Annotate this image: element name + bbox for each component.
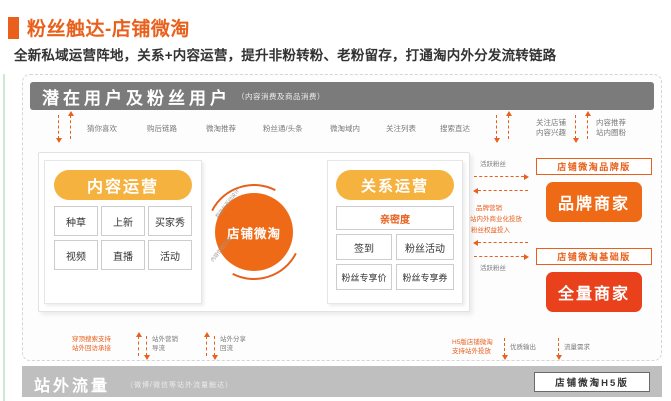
relationship-item-2[interactable]: 粉丝专享价 [336,264,392,290]
relationship-item-0[interactable]: 签到 [336,234,392,260]
middle-flow-line-0: 品牌营销 [476,202,502,212]
title-text: 粉丝触达-店铺微淘 [27,14,190,41]
bottom-flow-2: 站外分享 回流 [220,335,246,353]
title-accent-bar [8,17,19,39]
content-item-4[interactable]: 直播 [101,240,145,270]
bottom-flow-1-line0: 站外营销 [152,335,178,344]
merchant-all[interactable]: 全量商家 [546,272,642,312]
bottom-flow-0: 穿顶搜索支持 站外回访承接 [72,335,111,353]
bottom-flow-3-line1: 支持站外投放 [452,347,493,356]
arrow-right-bottom [474,256,524,257]
center-hub: 店铺微淘 权益与互动设计 内容供给分发 [206,184,302,280]
arrow-up-mid-b [508,115,509,139]
merchant-brand[interactable]: 品牌商家 [546,182,642,222]
bottom-flow-5: 流量需求 [564,343,590,352]
arrow-down-bottom-c [504,338,505,356]
top-right-channel-0-line1: 关注店铺 [522,118,566,128]
top-channel-row: 猜你喜欢 购后链路 微淘推荐 粉丝通/头条 微淘域内 关注列表 搜索直达 关注店… [30,113,654,143]
audience-band: 潜在用户及粉丝用户 （内容消费及商品消费） [30,82,654,110]
arrow-left-bottom [478,242,528,243]
arrow-down-bottom-b [214,336,215,356]
bottom-flow-5-line0: 流量需求 [564,343,590,352]
page-subtitle: 全新私域运营阵地，关系+内容运营，提升非粉转粉、老粉留存，打通淘内外分发流转链路 [14,44,556,64]
footer-note: （微博/微信等站外流量触达） [126,380,233,390]
top-channel-5: 关注列表 [386,123,416,134]
relationship-item-3[interactable]: 粉丝专享券 [396,264,454,290]
content-operations-title: 内容运营 [54,170,192,200]
content-item-2[interactable]: 买家秀 [148,206,192,236]
bottom-flow-2-line1: 回流 [220,344,246,353]
content-item-3[interactable]: 视频 [54,240,98,270]
top-channel-0: 猜你喜欢 [87,123,117,134]
version-box-brand[interactable]: 店铺微淘品牌版 [536,158,652,175]
arrow-up-bottom-a [138,336,139,356]
top-right-channel-1-line2: 站内圈粉 [596,128,626,138]
top-right-channel-0: 关注店铺 内容兴趣 [522,118,566,138]
top-channel-4: 微淘域内 [330,123,360,134]
middle-flow-line-2: 粉丝权益投入 [471,224,510,234]
arrow-left-top [478,190,528,191]
content-item-0[interactable]: 种草 [54,206,98,236]
bottom-flow-2-line0: 站外分享 [220,335,246,344]
top-channel-3: 粉丝通/头条 [263,123,303,134]
top-channel-6: 搜索直达 [440,123,470,134]
slide-root: 粉丝触达-店铺微淘 全新私域运营阵地，关系+内容运营，提升非粉转粉、老粉留存，打… [0,0,671,401]
relationship-operations-title: 关系运营 [336,170,454,200]
top-right-channel-1-line1: 内容推荐 [596,118,626,128]
bottom-flow-3: H5版店铺微淘 支持站外投放 [452,338,493,356]
arrow-down-left-a [58,115,59,139]
footer-badge[interactable]: 店铺微淘H5版 [534,372,650,392]
arrow-down-right-a [575,115,576,139]
audience-band-note: （内容消费及商品消费） [237,91,325,102]
audience-band-title: 潜在用户及粉丝用户 [42,84,231,109]
bottom-flow-0-line0: 穿顶搜索支持 [72,335,111,344]
relationship-item-1[interactable]: 粉丝活动 [396,234,454,260]
middle-flow-top-label: 活跃粉丝 [480,158,506,168]
bottom-flow-1: 站外营销 导流 [152,335,178,353]
arrow-down-bottom-a [146,336,147,356]
content-item-1[interactable]: 上新 [101,206,145,236]
arrow-up-bottom-b [206,336,207,356]
arrow-down-mid-a [496,115,497,139]
content-item-5[interactable]: 活动 [148,240,192,270]
top-channel-2: 微淘推荐 [206,123,236,134]
top-right-channel-0-line2: 内容兴趣 [522,128,566,138]
arrow-down-bottom-d [558,338,559,356]
bottom-flow-1-line1: 导流 [152,344,178,353]
arrow-up-right-b [587,115,588,139]
footer-title: 站外流量 [34,372,110,396]
middle-flow-zone: 活跃粉丝 品牌营销 站内外商业化投放 粉丝权益投入 活跃粉丝 [470,150,532,320]
top-channel-1: 购后链路 [147,123,177,134]
arrow-up-left-b [70,115,71,139]
middle-flow-bottom-label: 活跃粉丝 [480,262,506,272]
version-box-basic[interactable]: 店铺微淘基础版 [536,248,652,265]
bottom-flow-4: 优质输出 [510,343,536,352]
middle-flow-line-1: 站内外商业化投放 [470,213,522,223]
arrow-right-top [474,176,524,177]
left-edge-accent [3,74,5,401]
page-title: 粉丝触达-店铺微淘 [8,14,190,41]
bottom-flow-3-line0: H5版店铺微淘 [452,338,493,347]
bottom-flow-4-line0: 优质输出 [510,343,536,352]
bottom-flow-0-line1: 站外回访承接 [72,344,111,353]
top-right-channel-1: 内容推荐 站内圈粉 [596,118,626,138]
relationship-highlight[interactable]: 亲密度 [336,206,454,230]
